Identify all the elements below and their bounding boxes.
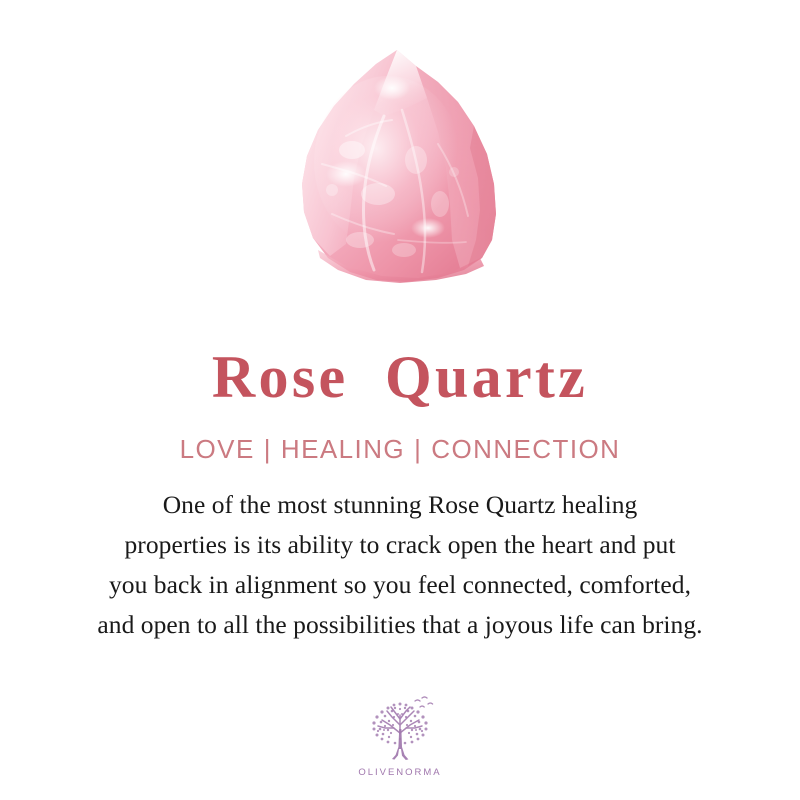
brand-logo[interactable]: OLIVENORMA [0,695,800,778]
keyword-connection: CONNECTION [431,436,620,462]
keyword-healing: HEALING [281,436,405,462]
keyword-tagline: LOVE | HEALING | CONNECTION [180,436,621,462]
keyword-love: LOVE [180,436,255,462]
page-title: Rose Quartz [212,347,588,407]
keyword-separator-2: | [414,436,422,462]
description-line-1: One of the most stunning Rose Quartz hea… [30,485,770,525]
rose-quartz-info-card: Rose Quartz LOVE | HEALING | CONNECTION … [0,0,800,800]
keyword-separator-1: | [264,436,272,462]
description-line-4: and open to all the possibilities that a… [30,605,770,645]
rose-quartz-crystal-icon [288,44,516,288]
crystal-image-stage [0,0,800,300]
tree-of-life-icon [358,695,442,765]
description-line-3: you back in alignment so you feel connec… [30,565,770,605]
brand-name: OLIVENORMA [358,767,441,778]
description-paragraph: One of the most stunning Rose Quartz hea… [30,485,770,645]
description-line-2: properties is its ability to crack open … [30,525,770,565]
